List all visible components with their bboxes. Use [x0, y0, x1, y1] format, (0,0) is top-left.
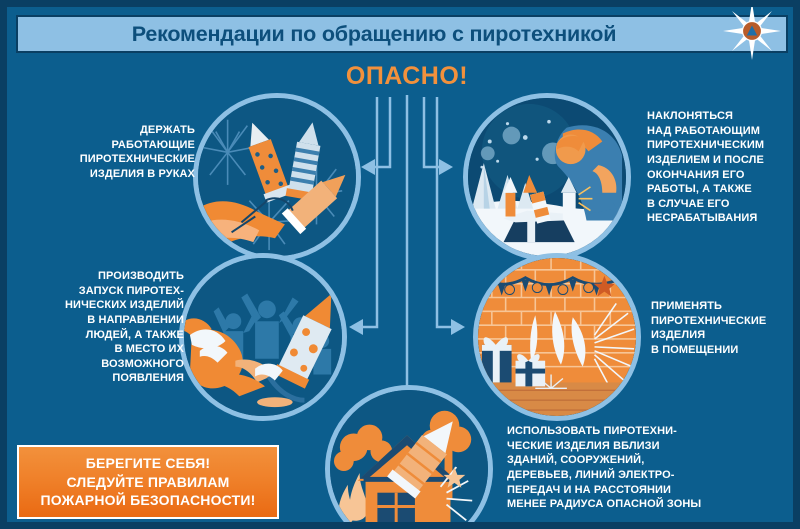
- emercom-star-logo: [721, 0, 783, 62]
- rule-text-launch-at-people: ПРОИЗВОДИТЬ ЗАПУСК ПИРОТЕХ- НИЧЕСКИХ ИЗД…: [29, 269, 184, 386]
- safety-callout-box: БЕРЕГИТЕ СЕБЯ! СЛЕДУЙТЕ ПРАВИЛАМ ПОЖАРНО…: [17, 445, 279, 519]
- illustration-burning-house-hit-by-rocket: [325, 385, 493, 529]
- rule-text-hold-in-hands: ДЕРЖАТЬ РАБОТАЮЩИЕ ПИРОТЕХНИЧЕСКИЕ ИЗДЕЛ…: [35, 123, 195, 182]
- illustration-fireworks-inside-room: [473, 253, 641, 421]
- rule-text-bend-over: НАКЛОНЯТЬСЯ НАД РАБОТАЮЩИМ ПИРОТЕХНИЧЕСК…: [647, 109, 800, 226]
- infographic-poster: Рекомендации по обращению с пиротехникой: [0, 0, 800, 529]
- rule-text-near-buildings: ИСПОЛЬЗОВАТЬ ПИРОТЕХНИ- ЧЕСКИЕ ИЗДЕЛИЯ В…: [507, 424, 800, 512]
- illustration-rocket-aimed-at-crowd: [179, 253, 347, 421]
- illustration-person-bending-over-fireworks-in-snow: [463, 93, 631, 261]
- page-title: Рекомендации по обращению с пиротехникой: [132, 22, 616, 47]
- danger-heading: ОПАСНО!: [7, 62, 800, 91]
- illustration-hands-holding-firing-rockets: [193, 93, 361, 261]
- rule-text-indoors: ПРИМЕНЯТЬ ПИРОТЕХНИЧЕСКИЕ ИЗДЕЛИЯ В ПОМЕ…: [651, 299, 800, 358]
- header-bar: Рекомендации по обращению с пиротехникой: [16, 15, 788, 53]
- safety-callout-text: БЕРЕГИТЕ СЕБЯ! СЛЕДУЙТЕ ПРАВИЛАМ ПОЖАРНО…: [40, 454, 255, 509]
